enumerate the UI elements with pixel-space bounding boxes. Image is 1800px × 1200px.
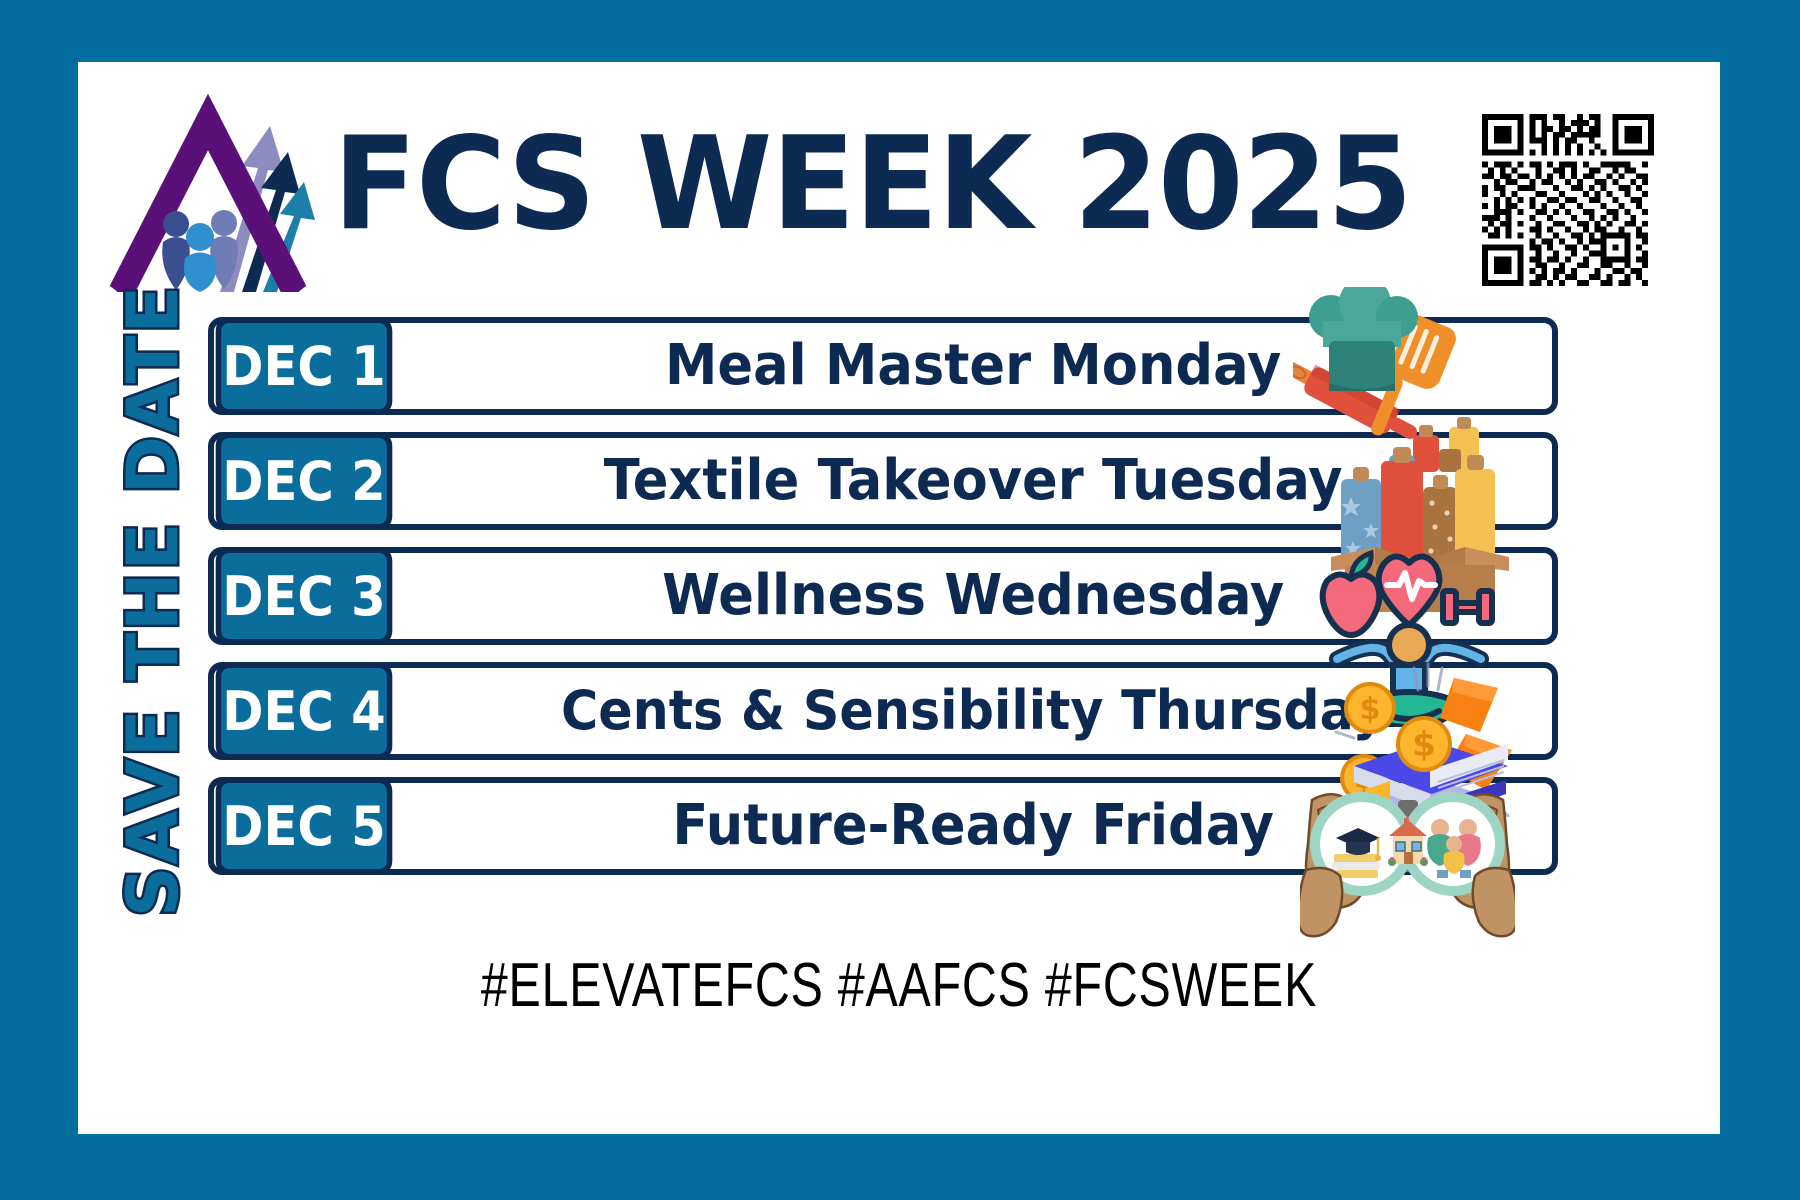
qr-code[interactable] bbox=[1482, 114, 1654, 286]
date-badge: DEC 3 bbox=[216, 547, 393, 645]
schedule-list: DEC 1 Meal Master Monday DEC 2 Textile T… bbox=[208, 317, 1558, 927]
aafcs-elevate-triangle-logo bbox=[108, 92, 318, 292]
schedule-row[interactable]: DEC 3 Wellness Wednesday bbox=[208, 547, 1558, 645]
event-title: Textile Takeover Tuesday bbox=[435, 438, 1518, 524]
date-badge: DEC 2 bbox=[216, 432, 393, 530]
event-title: Cents & Sensibility Thursday bbox=[435, 668, 1518, 754]
event-title: Future-Ready Friday bbox=[435, 783, 1518, 869]
hashtags-footer: #ELEVATEFCS #AAFCS #FCSWEEK bbox=[259, 950, 1540, 1021]
schedule-row[interactable]: DEC 4 Cents & Sensibility Thursday bbox=[208, 662, 1558, 760]
poster-card: FCS WEEK 2025 bbox=[78, 62, 1720, 1134]
poster-canvas: FCS WEEK 2025 bbox=[0, 0, 1800, 1200]
event-title: Wellness Wednesday bbox=[435, 553, 1518, 639]
date-badge: DEC 1 bbox=[216, 317, 393, 415]
date-badge: DEC 4 bbox=[216, 662, 393, 760]
date-badge: DEC 5 bbox=[216, 777, 393, 875]
poster-header: FCS WEEK 2025 bbox=[78, 62, 1720, 312]
schedule-row[interactable]: DEC 5 Future-Ready Friday bbox=[208, 777, 1558, 875]
save-the-date-label: SAVE THE DATE bbox=[108, 357, 198, 917]
event-title: Meal Master Monday bbox=[435, 323, 1518, 409]
schedule-row[interactable]: DEC 1 Meal Master Monday bbox=[208, 317, 1558, 415]
page-title: FCS WEEK 2025 bbox=[333, 110, 1412, 260]
schedule-row[interactable]: DEC 2 Textile Takeover Tuesday bbox=[208, 432, 1558, 530]
